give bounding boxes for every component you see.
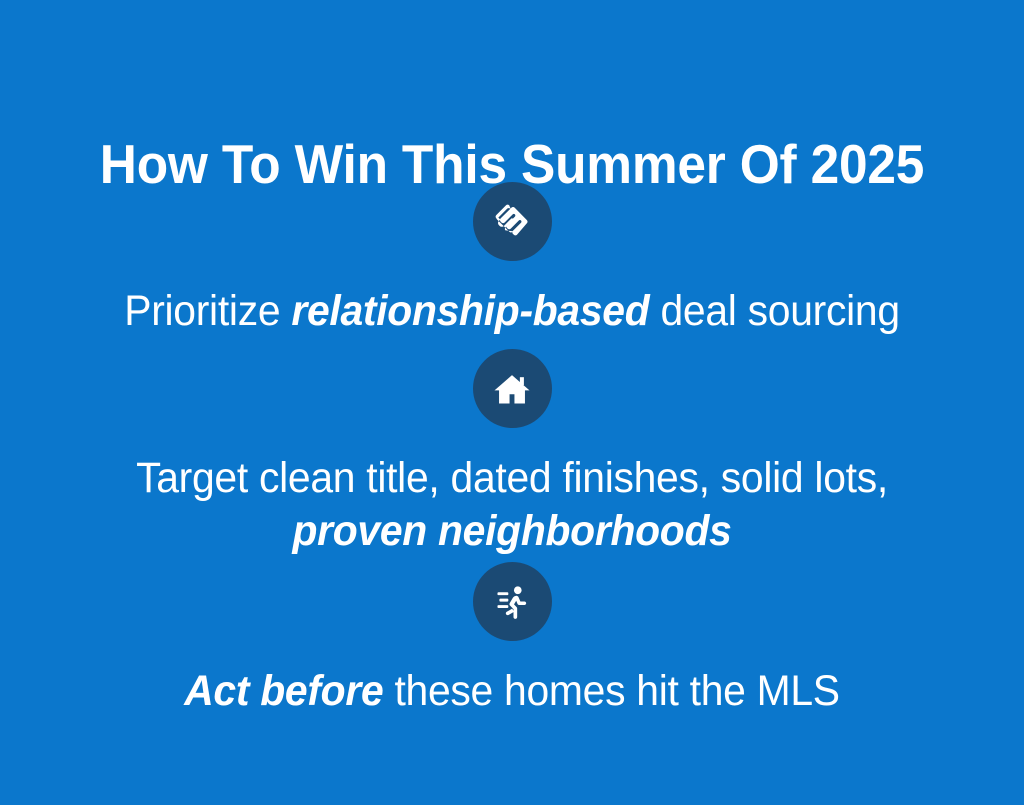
text-segment-emphasis: relationship-based xyxy=(291,287,649,335)
slide-canvas: How To Win This Summer Of 2025 Prioritiz… xyxy=(0,0,1024,805)
text-segment-emphasis: proven neighborhoods xyxy=(292,507,731,555)
icon-badge-1 xyxy=(473,182,552,261)
text-segment-emphasis: Act before xyxy=(184,667,383,715)
bullet-point-2-text: Target clean title, dated finishes, soli… xyxy=(26,452,999,558)
bullet-point-1-text: Prioritize relationship-based deal sourc… xyxy=(26,285,999,338)
icon-badge-2 xyxy=(473,349,552,428)
icon-badge-3 xyxy=(473,562,552,641)
bullet-point-3: Act before these homes hit the MLS xyxy=(0,562,1024,718)
handshake-icon xyxy=(491,201,533,243)
text-segment-plain-2: deal sourcing xyxy=(649,287,899,335)
running-person-icon xyxy=(491,581,533,623)
bullet-point-2: Target clean title, dated finishes, soli… xyxy=(0,349,1024,558)
house-icon xyxy=(491,368,533,410)
bullet-point-3-text: Act before these homes hit the MLS xyxy=(26,665,999,718)
text-segment-plain: Target clean title, dated finishes, soli… xyxy=(136,454,888,502)
bullet-point-1: Prioritize relationship-based deal sourc… xyxy=(0,182,1024,338)
text-segment-plain: Prioritize xyxy=(124,287,291,335)
text-segment-plain: these homes hit the MLS xyxy=(383,667,839,715)
